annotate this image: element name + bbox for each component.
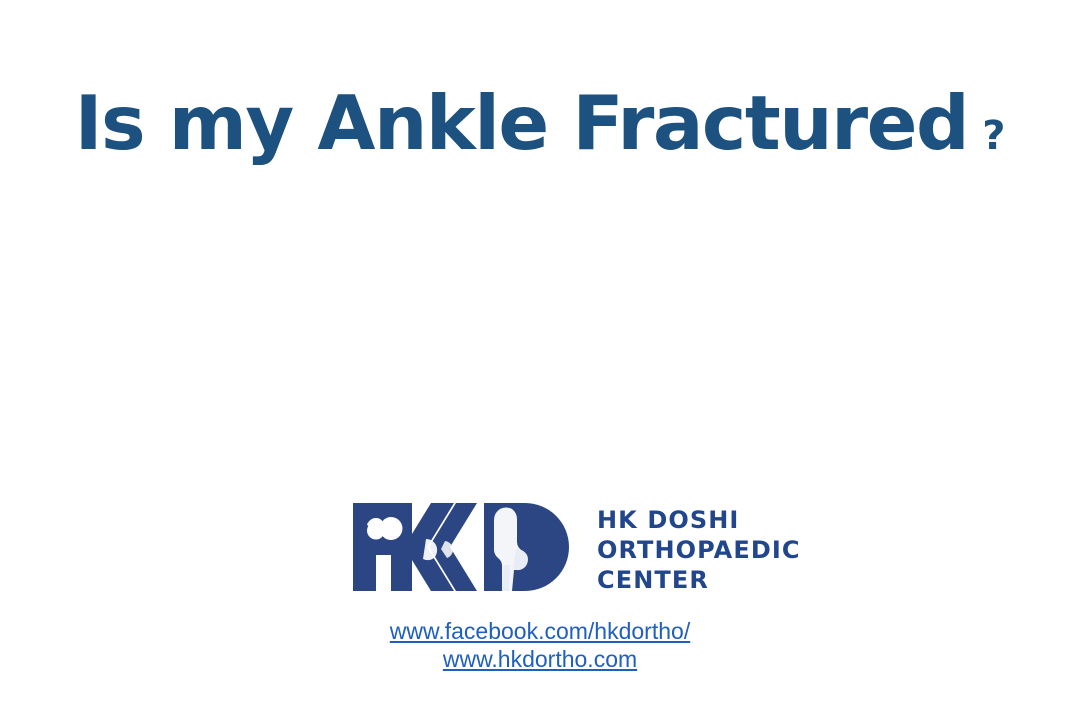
website-link[interactable]: www.hkdortho.com bbox=[0, 646, 1080, 673]
presentation-slide: Is my Ankle Fractured? HK DOSHI ORTHOPAE… bbox=[0, 0, 1080, 720]
hkd-monogram-icon bbox=[353, 503, 571, 591]
logo-line-1: HK DOSHI bbox=[597, 505, 801, 535]
contact-links: www.facebook.com/hkdortho/ www.hkdortho.… bbox=[0, 618, 1080, 673]
facebook-link[interactable]: www.facebook.com/hkdortho/ bbox=[0, 618, 1080, 645]
logo-line-2: ORTHOPAEDIC bbox=[597, 535, 801, 565]
logo-line-3: CENTER bbox=[597, 565, 801, 595]
slide-title: Is my Ankle Fractured? bbox=[0, 86, 1080, 161]
clinic-logo: HK DOSHI ORTHOPAEDIC CENTER bbox=[353, 503, 801, 595]
title-text: Is my Ankle Fractured bbox=[75, 79, 969, 167]
title-question-mark: ? bbox=[982, 113, 1005, 159]
logo-wordmark: HK DOSHI ORTHOPAEDIC CENTER bbox=[597, 505, 801, 595]
